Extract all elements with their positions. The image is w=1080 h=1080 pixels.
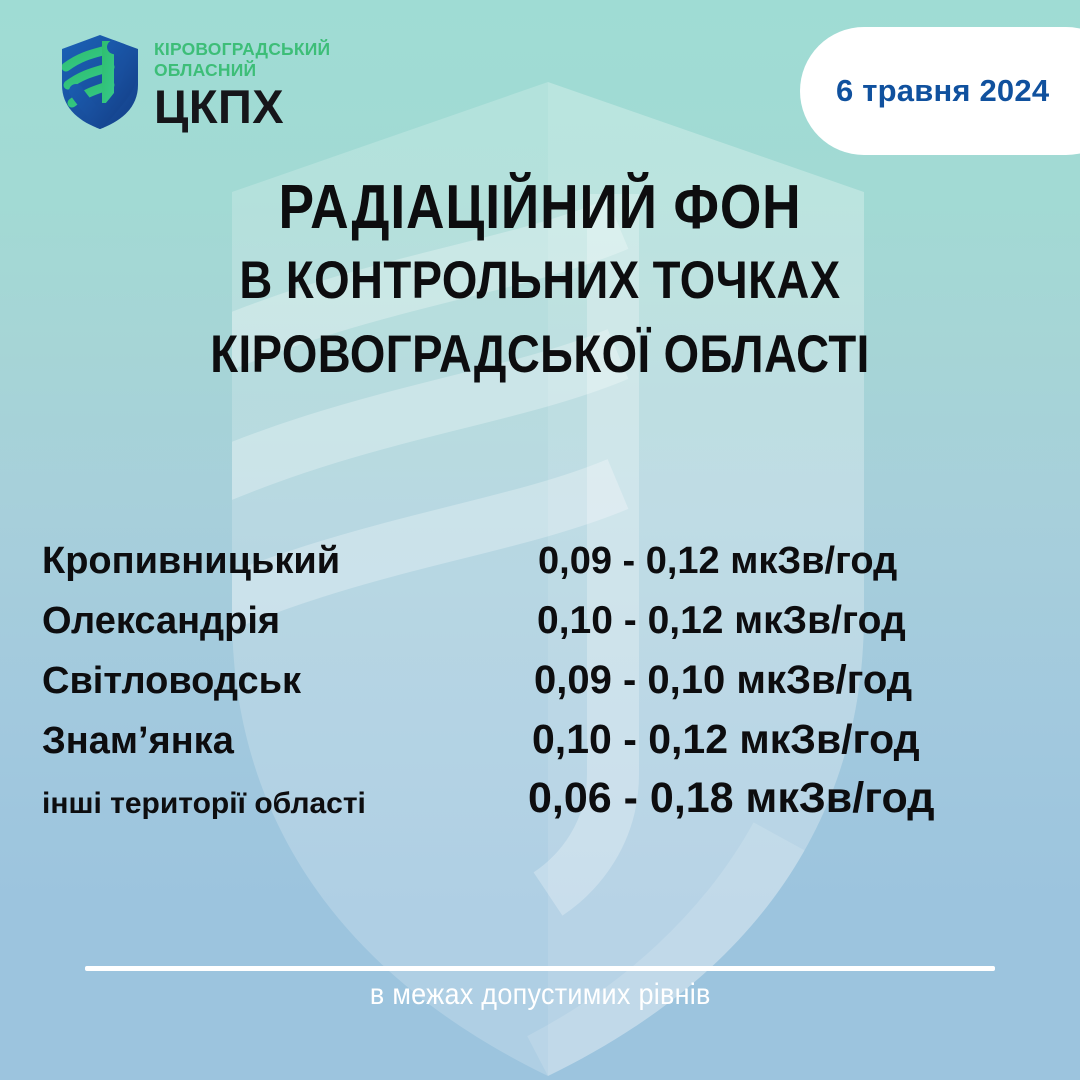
brand-line-1: КІРОВОГРАДСЬКИЙ	[154, 39, 330, 59]
footer-divider	[85, 966, 995, 971]
page-title: РАДІАЦІЙНИЙ ФОН В КОНТРОЛЬНИХ ТОЧКАХ КІР…	[0, 172, 1080, 392]
row-location: Кропивницький	[42, 540, 340, 583]
date-badge: 6 травня 2024	[800, 27, 1080, 155]
row-location: інші території області	[42, 787, 366, 821]
row-value: 0,09 - 0,10 мкЗв/год	[534, 658, 912, 703]
row-value: 0,10 - 0,12 мкЗв/год	[532, 716, 920, 763]
poster-canvas: КІРОВОГРАДСЬКИЙ ОБЛАСНИЙ ЦКПХ 6 травня 2…	[0, 0, 1080, 1080]
row-value: 0,10 - 0,12 мкЗв/год	[537, 599, 906, 643]
row-location: Знам’янка	[42, 720, 234, 763]
table-row: Світловодськ 0,09 - 0,10 мкЗв/год	[0, 647, 1080, 707]
title-line-3: КІРОВОГРАДСЬКОЇ ОБЛАСТІ	[76, 318, 1005, 392]
brand-logo: КІРОВОГРАДСЬКИЙ ОБЛАСНИЙ ЦКПХ	[58, 33, 330, 132]
row-value: 0,06 - 0,18 мкЗв/год	[528, 774, 935, 823]
brand-abbreviation: ЦКПХ	[154, 82, 330, 132]
row-location: Світловодськ	[42, 660, 301, 703]
title-line-2: В КОНТРОЛЬНИХ ТОЧКАХ	[76, 244, 1005, 318]
footer-note: в межах допустимих рівнів	[0, 978, 1080, 1012]
table-row: Знам’янка 0,10 - 0,12 мкЗв/год	[0, 707, 1080, 767]
row-value: 0,09 - 0,12 мкЗв/год	[538, 540, 897, 583]
table-row: Олександрія 0,10 - 0,12 мкЗв/год	[0, 587, 1080, 647]
table-row: інші території області 0,06 - 0,18 мкЗв/…	[0, 767, 1080, 827]
title-line-1: РАДІАЦІЙНИЙ ФОН	[76, 172, 1005, 244]
shield-heart-logo-icon	[58, 33, 142, 131]
date-badge-label: 6 травня 2024	[836, 73, 1049, 109]
measurements-table: Кропивницький 0,09 - 0,12 мкЗв/год Олекс…	[0, 527, 1080, 827]
brand-wordmark: КІРОВОГРАДСЬКИЙ ОБЛАСНИЙ ЦКПХ	[154, 39, 330, 132]
brand-line-2: ОБЛАСНИЙ	[154, 60, 330, 80]
footer-note-label: в межах допустимих рівнів	[370, 978, 711, 1012]
table-row: Кропивницький 0,09 - 0,12 мкЗв/год	[0, 527, 1080, 587]
row-location: Олександрія	[42, 600, 280, 643]
